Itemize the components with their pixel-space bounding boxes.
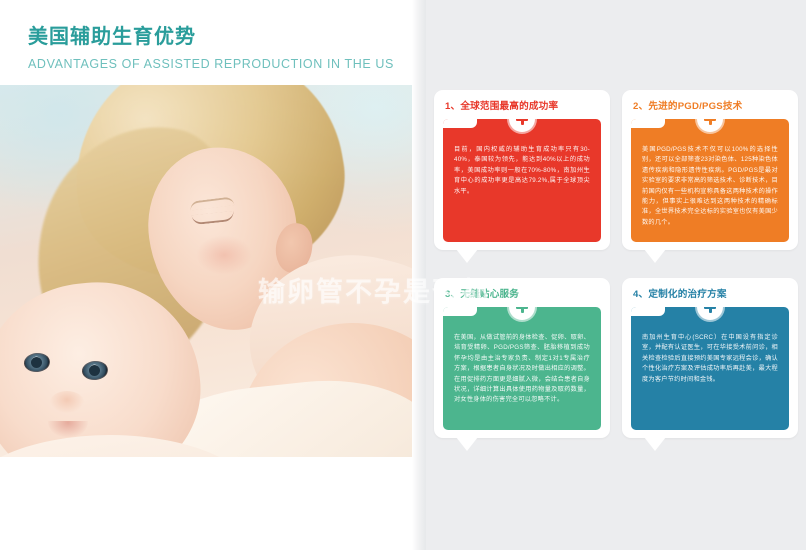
card-1-panel: 目前，国内权威的辅助生育成功率只有30-40%，泰国较为领先，能达到40%以上的…: [443, 119, 601, 242]
card-4-title: 4、定制化的治疗方案: [633, 288, 789, 301]
right-pane: 1、全球范围最高的成功率 目前，国内权威的辅助生育成功率只有30-40%，泰国较…: [426, 0, 806, 550]
page-header: 美国辅助生育优势 ADVANTAGES OF ASSISTED REPRODUC…: [28, 24, 398, 72]
plus-icon: [509, 119, 535, 132]
advantage-card-grid: 1、全球范围最高的成功率 目前，国内权威的辅助生育成功率只有30-40%，泰国较…: [434, 90, 798, 438]
baby-pupil-right: [89, 365, 100, 376]
card-3-panel: 在美国，从做试管前的身体检查、促卵、取卵、培育受精卵、PGD/PGS筛查、胚胎移…: [443, 307, 601, 430]
plus-icon: [697, 307, 723, 320]
card-2-body: 美国PGD/PGS技术不仅可以100%的选择性别，还可以全部筛查23对染色体、1…: [642, 145, 778, 228]
page-title: 美国辅助生育优势: [28, 24, 398, 50]
baby-pupil-left: [31, 357, 42, 368]
photo-watermark: 输卵管不孕是否都: [258, 276, 490, 308]
card-1-title: 1、全球范围最高的成功率: [445, 100, 601, 113]
card-4-tail: [644, 437, 666, 451]
card-2-title: 2、先进的PGD/PGS技术: [633, 100, 789, 113]
mother-cheek: [196, 235, 252, 275]
advantage-card-2[interactable]: 2、先进的PGD/PGS技术 美国PGD/PGS技术不仅可以100%的选择性别，…: [622, 90, 798, 250]
plus-icon: [697, 119, 723, 132]
card-3-body: 在美国，从做试管前的身体检查、促卵、取卵、培育受精卵、PGD/PGS筛查、胚胎移…: [454, 333, 590, 406]
card-1-tail: [456, 249, 478, 263]
left-pane: 美国辅助生育优势 ADVANTAGES OF ASSISTED REPRODUC…: [0, 0, 412, 550]
card-4-body: 南加州生育中心(SCRC）在中国设有指定诊室，并配有认证医生，可在华接受术前问诊…: [642, 333, 778, 385]
card-1-body: 目前，国内权威的辅助生育成功率只有30-40%，泰国较为领先，能达到40%以上的…: [454, 145, 590, 197]
plus-icon: [509, 307, 535, 320]
card-4-panel: 南加州生育中心(SCRC）在中国设有指定诊室，并配有认证医生，可在华接受术前问诊…: [631, 307, 789, 430]
baby-nose: [50, 391, 84, 413]
page-subtitle: ADVANTAGES OF ASSISTED REPRODUCTION IN T…: [28, 56, 398, 72]
advantage-card-4[interactable]: 4、定制化的治疗方案 南加州生育中心(SCRC）在中国设有指定诊室，并配有认证医…: [622, 278, 798, 438]
card-2-panel: 美国PGD/PGS技术不仅可以100%的选择性别，还可以全部筛查23对染色体、1…: [631, 119, 789, 242]
card-2-tail: [644, 249, 666, 263]
pane-divider: [412, 0, 426, 550]
hero-photo: [0, 85, 427, 457]
card-3-tail: [456, 437, 478, 451]
advantage-card-1[interactable]: 1、全球范围最高的成功率 目前，国内权威的辅助生育成功率只有30-40%，泰国较…: [434, 90, 610, 250]
